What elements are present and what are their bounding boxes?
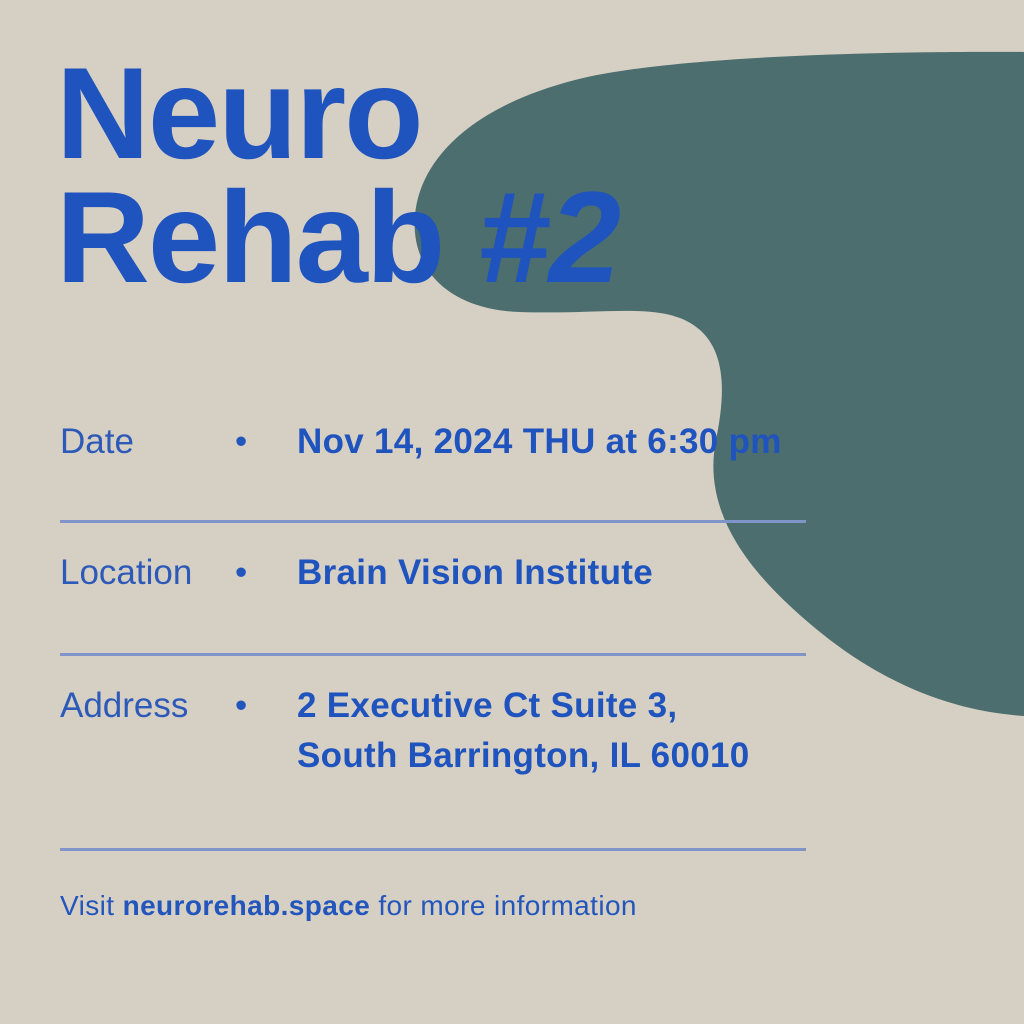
detail-row-location: Location • Brain Vision Institute <box>60 555 806 621</box>
footer-domain[interactable]: neurorehab.space <box>123 890 371 921</box>
divider-3 <box>60 848 806 851</box>
bullet-icon-location: • <box>235 555 297 590</box>
title-line-2: Rehab #2 <box>56 176 956 300</box>
footer-suffix: for more information <box>370 890 637 921</box>
detail-value-location: Brain Vision Institute <box>297 555 806 590</box>
title-line-1: Neuro <box>56 52 956 176</box>
footer-prefix: Visit <box>60 890 123 921</box>
detail-label-address: Address <box>60 688 235 723</box>
footer-note: Visit neurorehab.space for more informat… <box>60 890 637 922</box>
spacer <box>60 804 806 848</box>
event-details: Date • Nov 14, 2024 THU at 6:30 pm Locat… <box>60 424 806 851</box>
title-edition-number: #2 <box>477 164 620 310</box>
spacer <box>60 523 806 555</box>
detail-value-address-line1: 2 Executive Ct Suite 3, <box>297 688 806 723</box>
bullet-icon-date: • <box>235 424 297 459</box>
detail-value-location-line1: Brain Vision Institute <box>297 555 806 590</box>
detail-label-date: Date <box>60 424 235 459</box>
detail-row-address: Address • 2 Executive Ct Suite 3, South … <box>60 688 806 804</box>
spacer <box>60 656 806 688</box>
detail-value-address: 2 Executive Ct Suite 3, South Barrington… <box>297 688 806 773</box>
detail-row-date: Date • Nov 14, 2024 THU at 6:30 pm <box>60 424 806 490</box>
detail-label-location: Location <box>60 555 235 590</box>
detail-value-address-line2: South Barrington, IL 60010 <box>297 738 806 773</box>
title-line-2-main: Rehab <box>56 164 477 310</box>
detail-value-date-line1: Nov 14, 2024 THU at 6:30 pm <box>297 424 806 459</box>
event-poster: Neuro Rehab #2 Date • Nov 14, 2024 THU a… <box>0 0 1024 1024</box>
poster-title: Neuro Rehab #2 <box>56 52 956 299</box>
detail-value-date: Nov 14, 2024 THU at 6:30 pm <box>297 424 806 459</box>
spacer <box>60 621 806 653</box>
bullet-icon-address: • <box>235 688 297 723</box>
spacer <box>60 490 806 520</box>
